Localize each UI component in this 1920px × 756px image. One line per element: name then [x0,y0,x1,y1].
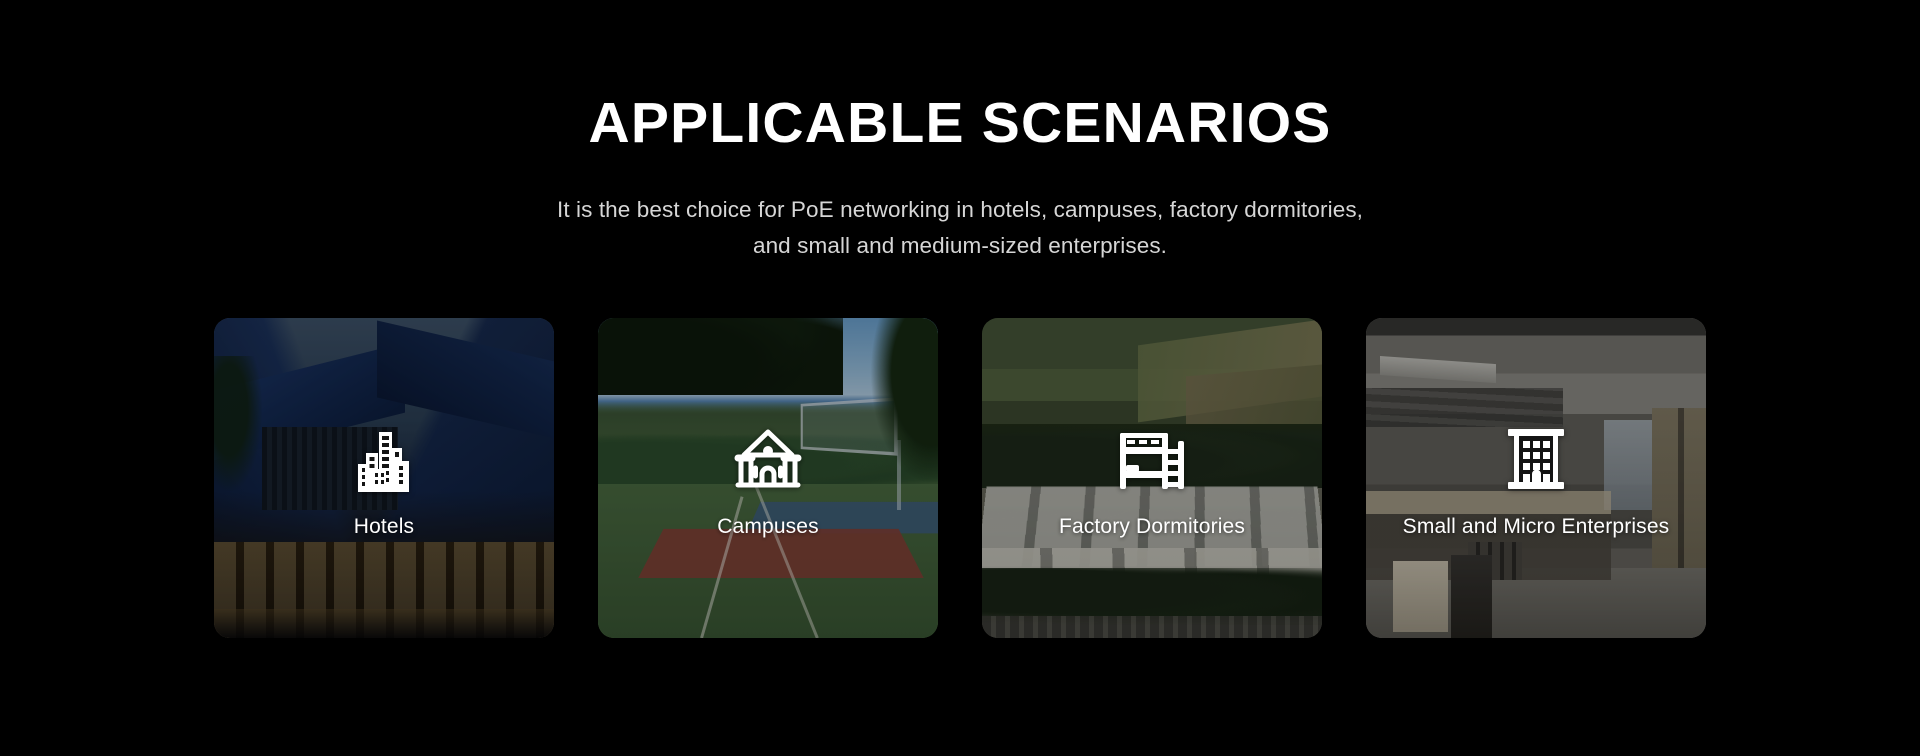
section-header: APPLICABLE SCENARIOS [0,92,1920,154]
bunk-bed-icon [1110,418,1194,502]
applicable-scenarios-section: APPLICABLE SCENARIOS It is the best choi… [0,0,1920,756]
scenario-card-hotels[interactable]: Hotels [214,318,554,638]
subtitle-line-1: It is the best choice for PoE networking… [0,192,1920,228]
scenario-card-factory-dormitories[interactable]: Factory Dormitories [982,318,1322,638]
school-building-icon [726,418,810,502]
section-subtitle: It is the best choice for PoE networking… [0,192,1920,264]
scenario-card-campuses[interactable]: Campuses [598,318,938,638]
scenario-card-list: Hotels [0,318,1920,640]
scenario-card-label: Factory Dormitories [1059,514,1245,539]
scenario-card-label: Hotels [354,514,414,539]
skyscrapers-icon [342,418,426,502]
page-title: APPLICABLE SCENARIOS [0,92,1920,154]
office-building-icon [1494,418,1578,502]
scenario-card-small-and-micro-enterprises[interactable]: Small and Micro Enterprises [1366,318,1706,638]
subtitle-line-2: and small and medium-sized enterprises. [0,228,1920,264]
scenario-card-label: Campuses [717,514,819,539]
scenario-card-label: Small and Micro Enterprises [1403,514,1670,539]
